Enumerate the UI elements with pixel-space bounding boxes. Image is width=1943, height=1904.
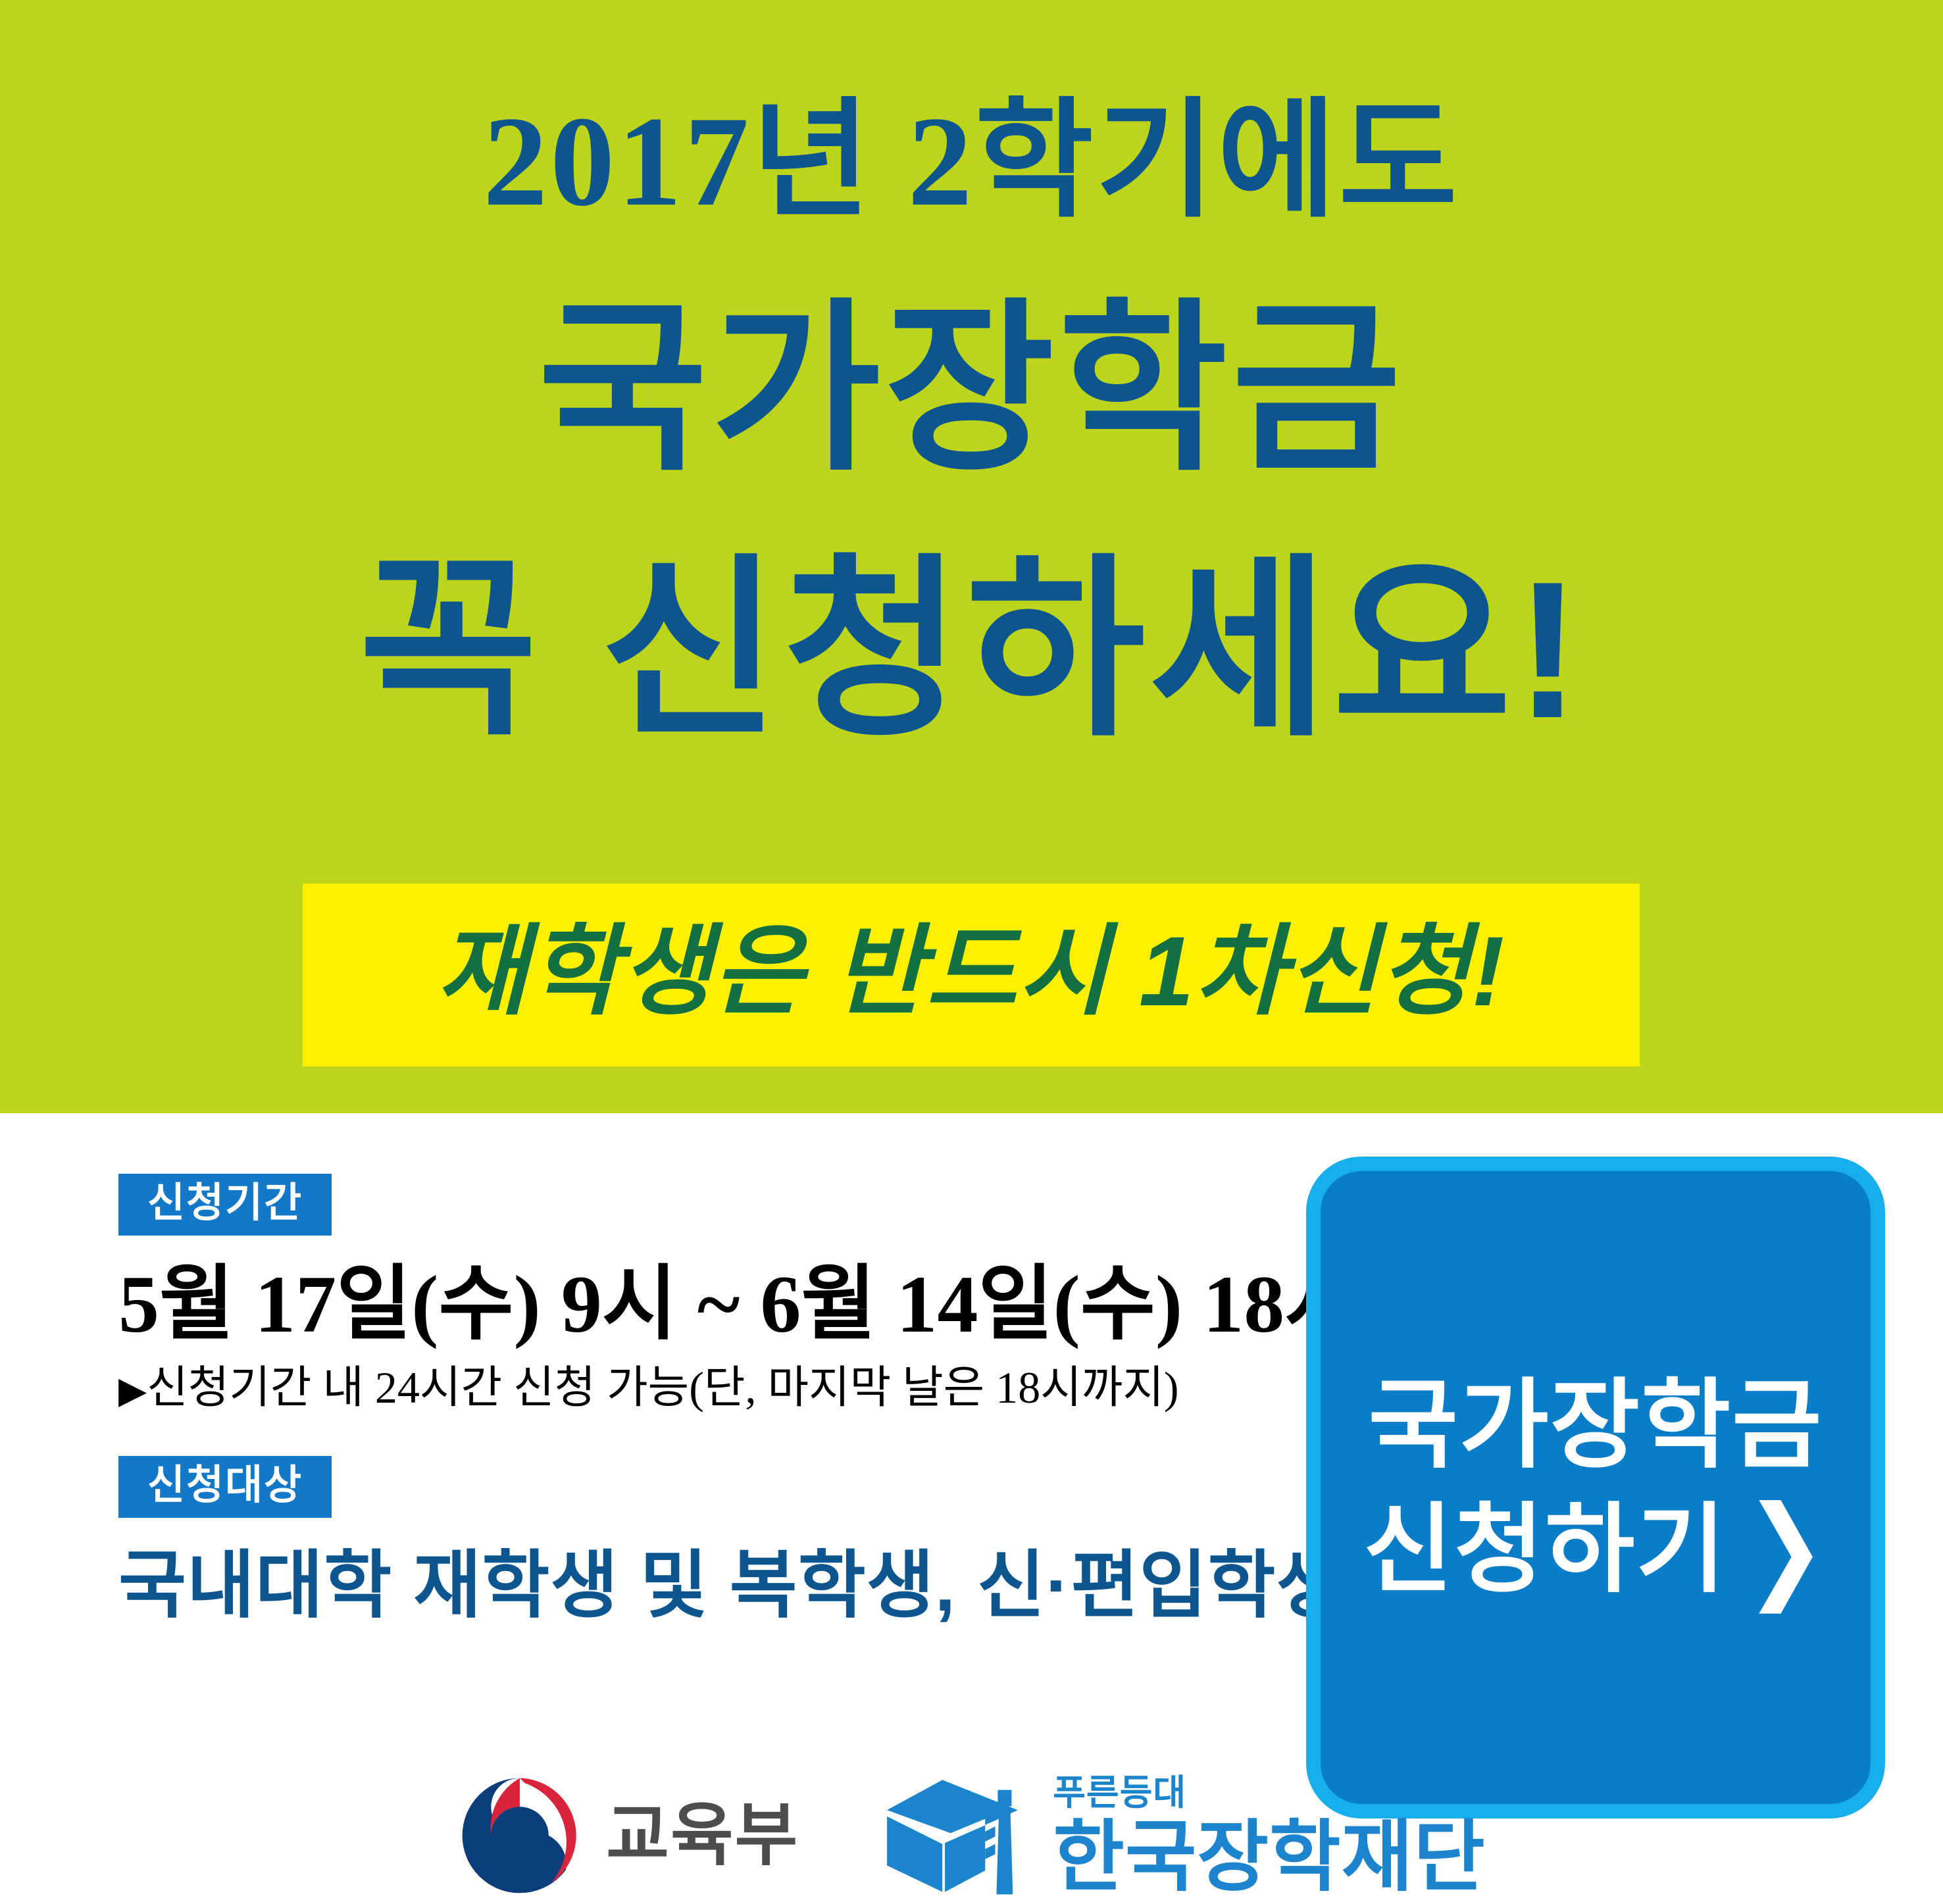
chevron-right-icon: ❯ — [1744, 1490, 1828, 1604]
highlight-banner: 재학생은 반드시 1차신청! — [303, 884, 1640, 1066]
info-section: 신청기간 5월 17일(수) 9시 ~ 6월 14일(수) 18시 ▶신청기간 … — [0, 1113, 1943, 1904]
highlight-text: 재학생은 반드시 1차신청! — [437, 922, 1506, 1020]
hero-title-apply: 꼭 신청하세요! — [0, 553, 1943, 747]
application-period-value: 5월 17일(수) 9시 ~ 6월 14일(수) 18시 — [118, 1262, 1276, 1347]
kosaf-wordmark: 푸른등대 한국장학재단 — [1053, 1775, 1485, 1896]
kosaf-tagline: 푸른등대 — [1053, 1775, 1485, 1811]
application-period-block: 신청기간 5월 17일(수) 9시 ~ 6월 14일(수) 18시 ▶신청기간 … — [118, 1174, 1276, 1413]
application-target-value: 국내대학 재학생 및 복학생, 신·편입학생 — [118, 1547, 1276, 1624]
application-target-label: 신청대상 — [118, 1456, 332, 1518]
taegeuk-swirl-icon — [457, 1773, 582, 1898]
application-period-note-text: 신청기간 내 24시간 신청 가능(단, 마지막 날은 18시까지) — [147, 1363, 1179, 1413]
cta-label-line2: 신청하기 — [1363, 1488, 1727, 1612]
kosaf-logo: 푸른등대 한국장학재단 — [884, 1771, 1485, 1900]
scholarship-banner: 2017년 2학기에도 국가장학금 꼭 신청하세요! 재학생은 반드시 1차신청… — [0, 0, 1943, 1904]
application-period-note: ▶신청기간 내 24시간 신청 가능(단, 마지막 날은 18시까지) — [118, 1363, 1276, 1413]
footer-logos: 교육부 — [0, 1771, 1943, 1900]
cta-label-line1: 국가장학금 — [1369, 1363, 1823, 1488]
cta-label-line2-row: 신청하기 ❯ — [1363, 1488, 1828, 1612]
hero-section: 2017년 2학기에도 국가장학금 꼭 신청하세요! 재학생은 반드시 1차신청… — [0, 0, 1943, 1113]
kosaf-name: 한국장학재단 — [1053, 1818, 1485, 1896]
graduation-cap-lighthouse-icon — [884, 1771, 1036, 1900]
bullet-arrow-icon: ▶ — [118, 1370, 147, 1411]
application-period-label: 신청기간 — [118, 1174, 332, 1236]
ministry-of-education-logo: 교육부 — [457, 1773, 799, 1898]
hero-subtitle-line: 2017년 2학기에도 — [0, 97, 1943, 226]
application-target-block: 신청대상 국내대학 재학생 및 복학생, 신·편입학생 — [118, 1456, 1276, 1624]
apply-scholarship-button[interactable]: 국가장학금 신청하기 ❯ — [1306, 1157, 1885, 1818]
ministry-of-education-name: 교육부 — [606, 1801, 799, 1870]
hero-title-scholarship: 국가장학금 — [0, 297, 1943, 482]
info-details: 신청기간 5월 17일(수) 9시 ~ 6월 14일(수) 18시 ▶신청기간 … — [118, 1174, 1276, 1624]
